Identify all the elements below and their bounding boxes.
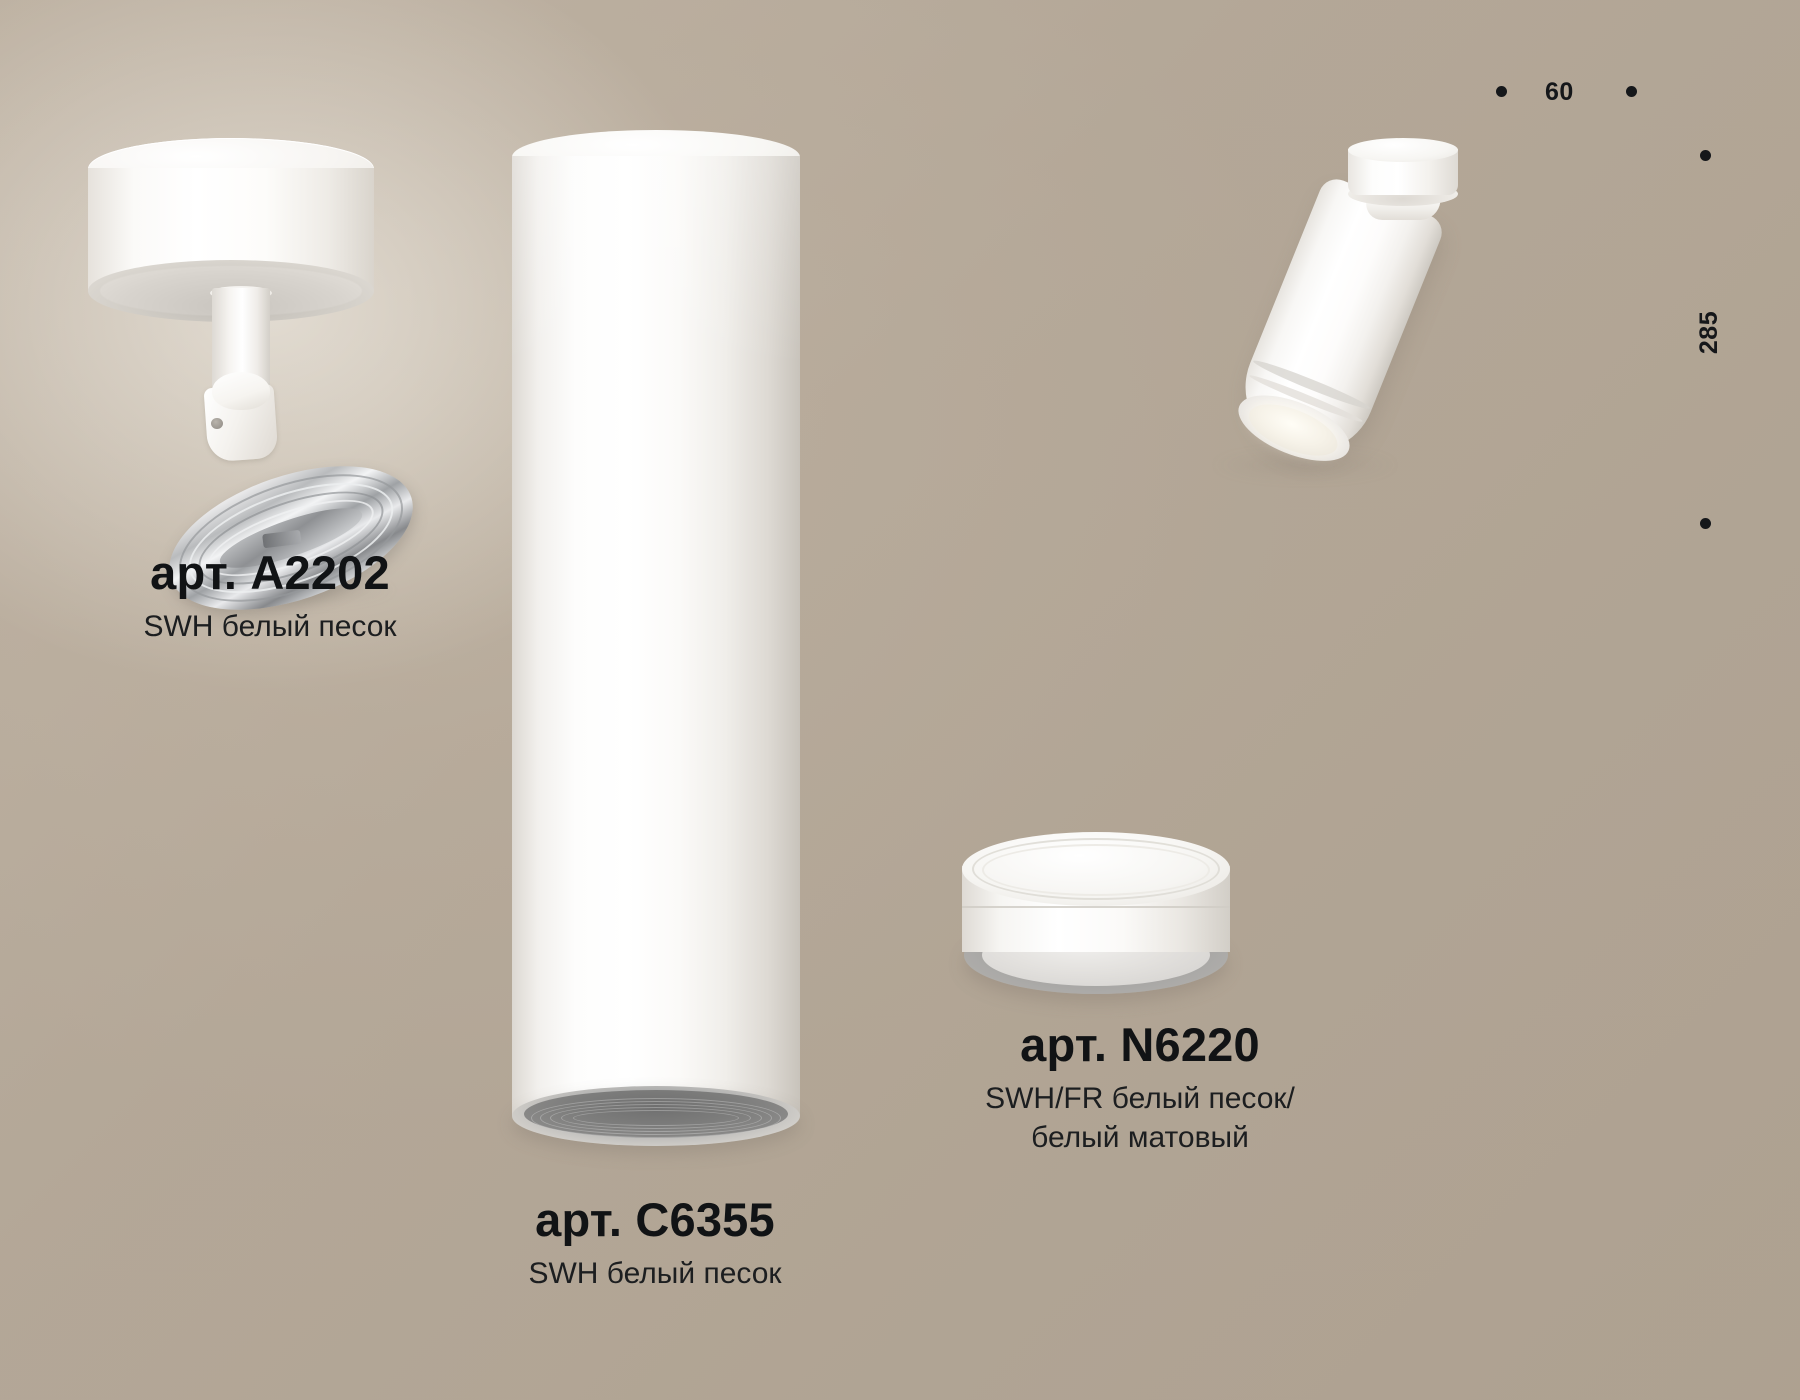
dimension-height-label: 285: [1695, 311, 1724, 354]
assembled-spotlight-icon[interactable]: [1170, 120, 1590, 520]
article-code: арт. N6220: [930, 1020, 1350, 1069]
color-description: SWH белый песок: [470, 1255, 840, 1293]
article-code: арт. C6355: [470, 1195, 840, 1244]
product-a2202[interactable]: арт. A2202 SWH белый песок: [60, 120, 480, 540]
product-diagram-canvas: арт. A2202 SWH белый песок арт. C6355 SW…: [0, 0, 1800, 1400]
spotlight-base-top: [1348, 138, 1458, 162]
product-n6220[interactable]: арт. N6220 SWH/FR белый песок/ белый мат…: [930, 820, 1350, 1270]
caption-c6355: арт. C6355 SWH белый песок: [470, 1195, 840, 1294]
caption-a2202: арт. A2202 SWH белый песок: [60, 548, 480, 647]
article-code: арт. A2202: [60, 548, 480, 597]
dimension-dot-bottom: [1700, 518, 1711, 529]
swivel-knuckle: [212, 372, 270, 410]
dimension-dot-right: [1626, 86, 1637, 97]
color-line-1: SWH/FR белый песок/: [985, 1082, 1295, 1115]
color-line-2: белый матовый: [1031, 1121, 1249, 1154]
groove-ring: [573, 1110, 739, 1126]
caption-n6220: арт. N6220 SWH/FR белый песок/ белый мат…: [930, 1020, 1350, 1157]
tube-inner-grooves: [528, 1096, 784, 1140]
dimension-dot-top: [1700, 150, 1711, 161]
puck-top-ridge: [982, 844, 1210, 896]
dimension-width-label: 60: [1545, 78, 1574, 107]
dimension-dot-left: [1496, 86, 1507, 97]
puck-seam-line: [962, 906, 1230, 908]
color-description: SWH/FR белый песок/ белый матовый: [930, 1080, 1350, 1157]
tube-side-surface: [512, 156, 800, 1116]
spotlight-barrel: [1214, 174, 1447, 501]
color-description: SWH белый песок: [60, 608, 480, 646]
swivel-pin: [211, 418, 223, 429]
product-c6355[interactable]: арт. C6355 SWH белый песок: [470, 130, 840, 1270]
